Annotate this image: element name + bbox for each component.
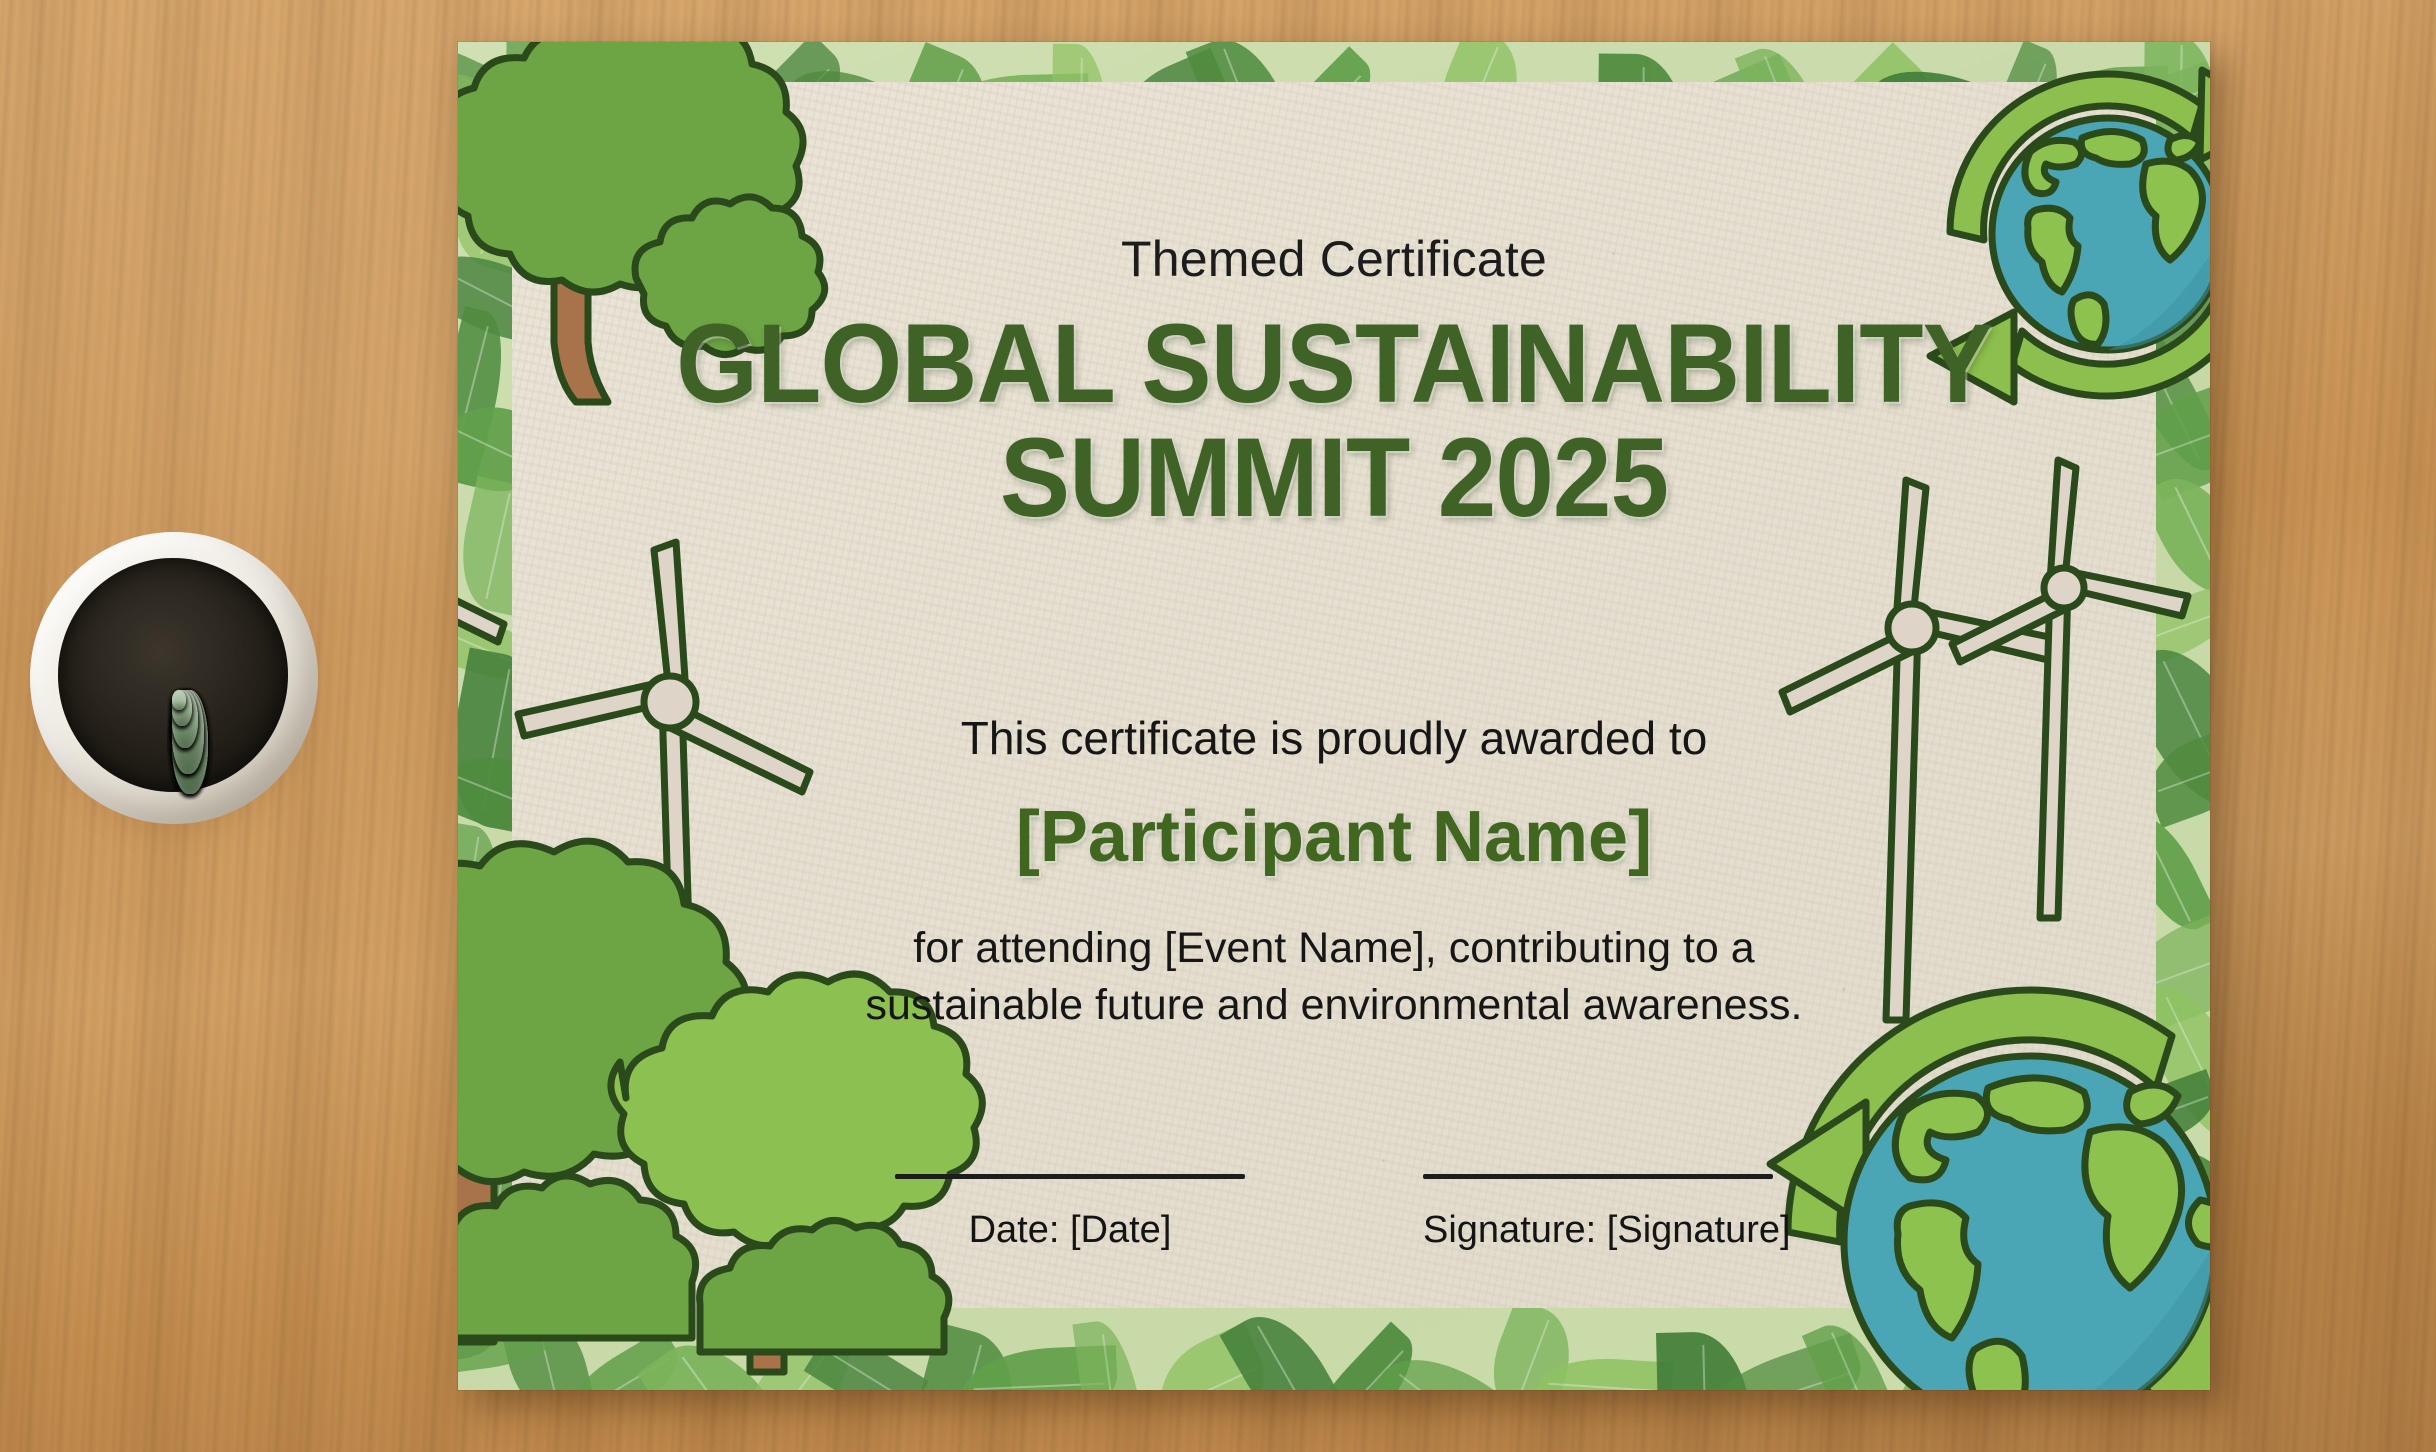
signature-rule bbox=[1423, 1174, 1773, 1179]
certificate-description: for attending [Event Name], contributing… bbox=[512, 920, 2156, 1034]
signature-label: Signature: [Signature] bbox=[1423, 1209, 1773, 1252]
border-leaf bbox=[1073, 1317, 1153, 1390]
description-line2: sustainable future and environmental awa… bbox=[512, 977, 2156, 1034]
certificate-text-content: Themed Certificate GLOBAL SUSTAINABILITY… bbox=[512, 82, 2156, 1308]
certificate-title-line2: SUMMIT 2025 bbox=[561, 421, 2106, 535]
description-line1: for attending [Event Name], contributing… bbox=[512, 920, 2156, 977]
certificate-document: Themed Certificate GLOBAL SUSTAINABILITY… bbox=[458, 42, 2210, 1390]
certificate-title: GLOBAL SUSTAINABILITY SUMMIT 2025 bbox=[561, 307, 2106, 535]
awarded-statement: This certificate is proudly awarded to bbox=[512, 711, 2156, 765]
certificate-subtitle: Themed Certificate bbox=[512, 230, 2156, 288]
date-block: Date: [Date] bbox=[895, 1174, 1245, 1252]
potted-succulent bbox=[12, 520, 352, 870]
date-rule bbox=[895, 1174, 1245, 1179]
date-label: Date: [Date] bbox=[895, 1209, 1245, 1252]
succulent-leaf bbox=[172, 690, 186, 710]
signature-block: Signature: [Signature] bbox=[1423, 1174, 1773, 1252]
recipient-name-placeholder: [Participant Name] bbox=[512, 796, 2156, 878]
signature-row: Date: [Date] Signature: [Signature] bbox=[512, 1174, 2156, 1252]
certificate-title-line1: GLOBAL SUSTAINABILITY bbox=[676, 301, 1992, 426]
border-leaf bbox=[458, 823, 507, 958]
